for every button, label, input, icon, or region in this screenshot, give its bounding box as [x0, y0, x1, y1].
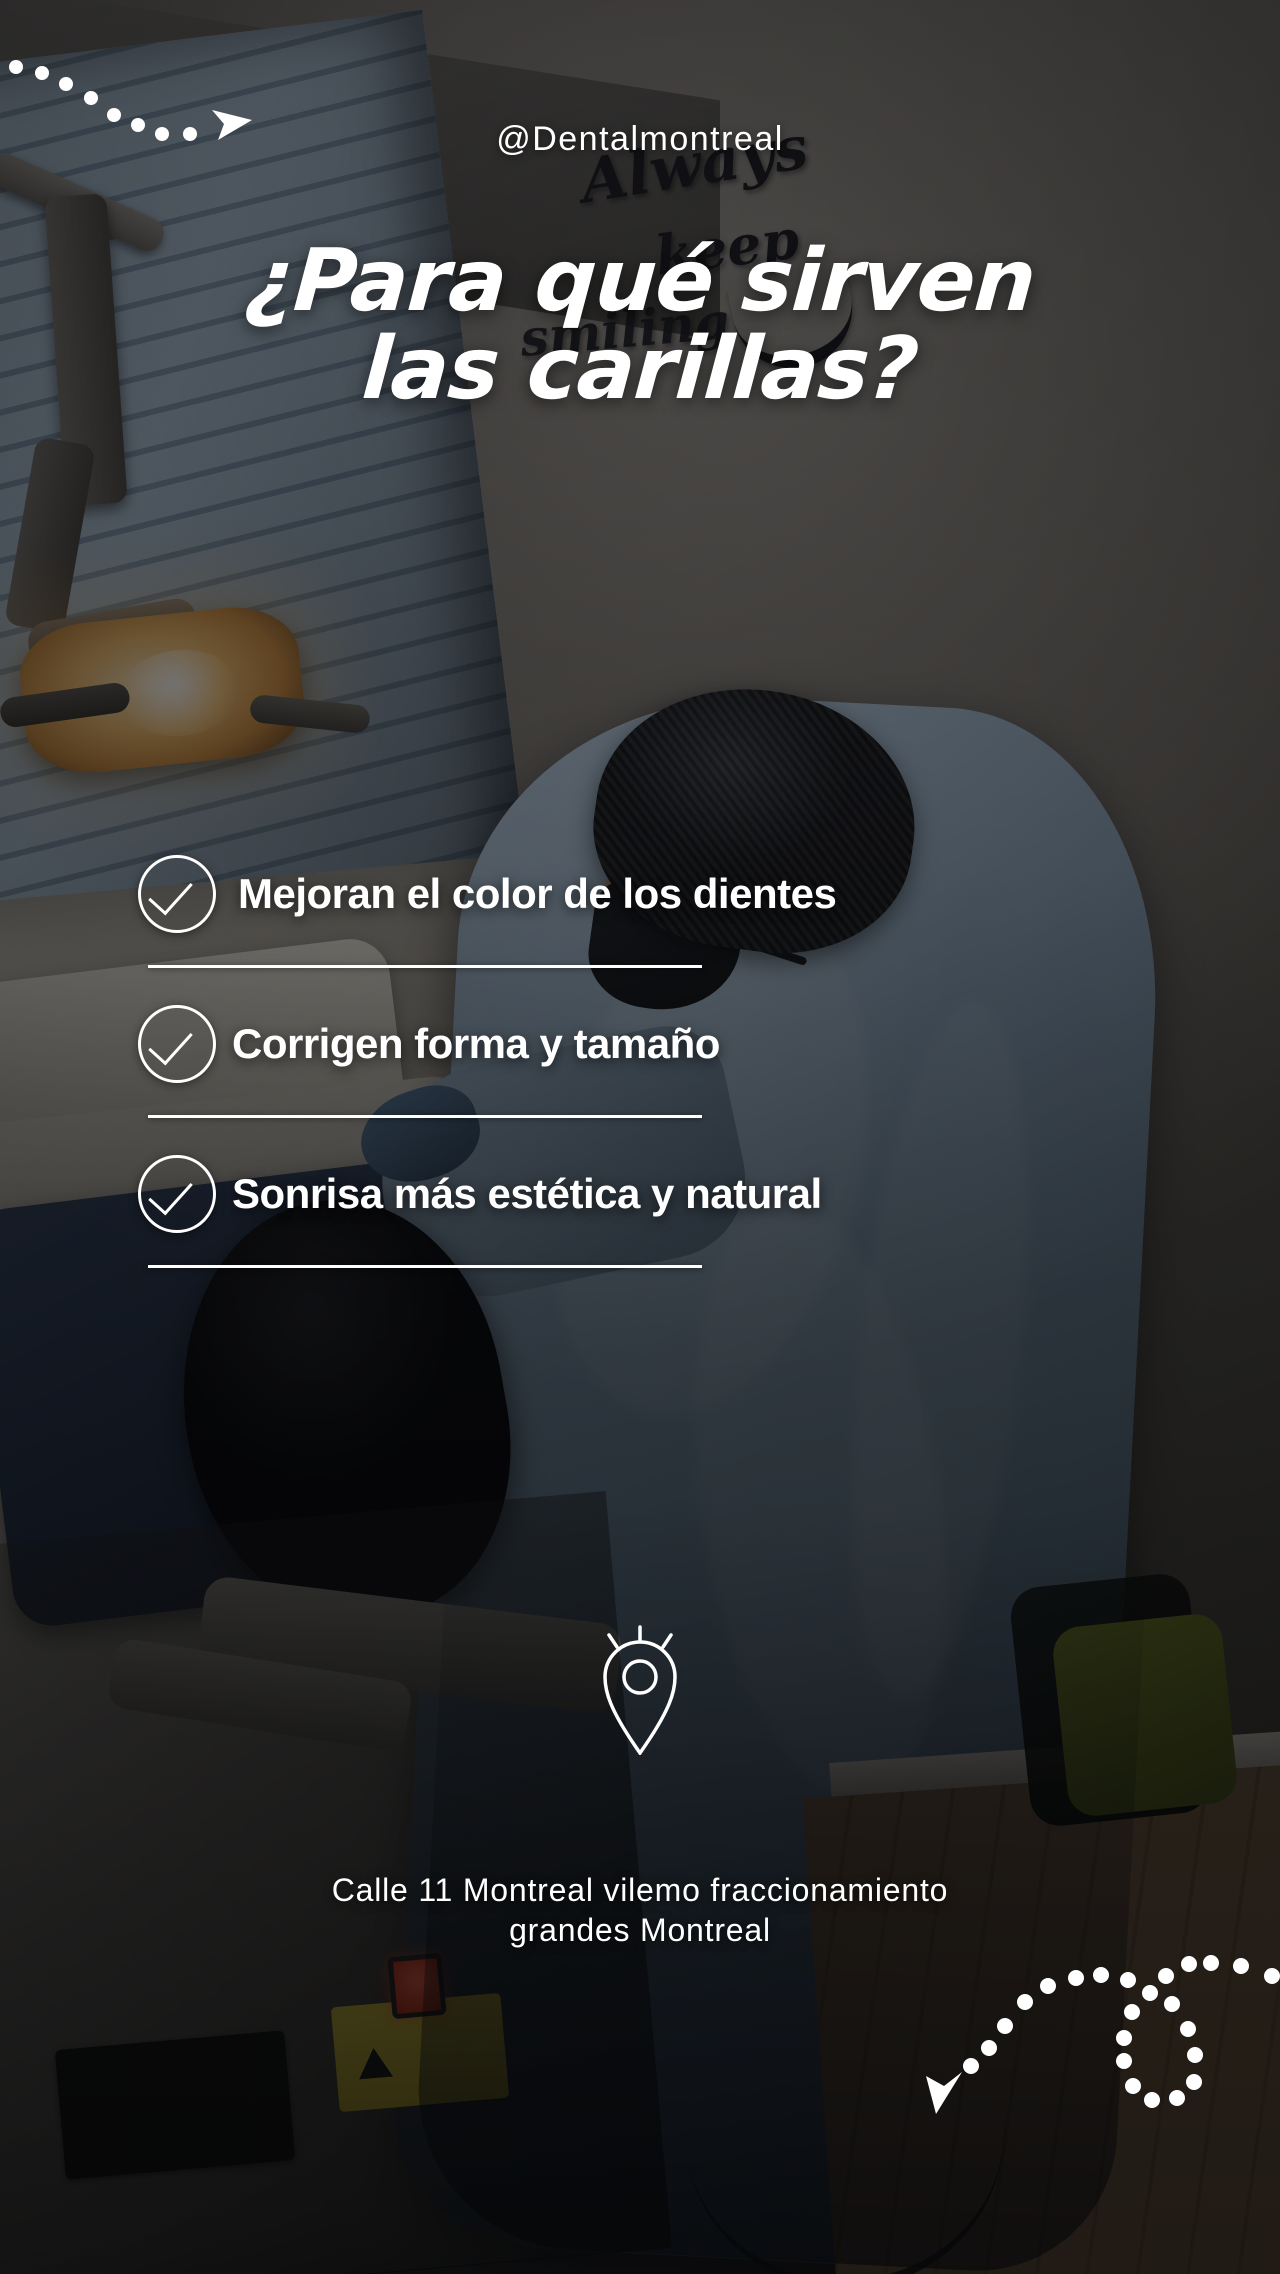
list-item-label: Sonrisa más estética y natural — [232, 1170, 822, 1218]
dotted-arrow-bottom-right-icon — [900, 1890, 1280, 2130]
list-item-label: Mejoran el color de los dientes — [238, 870, 836, 918]
list-item-underline — [148, 965, 702, 968]
benefits-list: Mejoran el color de los dientes Corrigen… — [0, 855, 1280, 1305]
check-circle-icon — [138, 1005, 216, 1083]
headline-line-1: ¿Para qué sirven — [0, 238, 1280, 326]
list-item-label: Corrigen forma y tamaño — [232, 1020, 720, 1068]
page-title: ¿Para qué sirven las carillas? — [0, 238, 1280, 413]
list-item: Corrigen forma y tamaño — [0, 1005, 1280, 1155]
list-item: Sonrisa más estética y natural — [0, 1155, 1280, 1305]
headline-line-2: las carillas? — [0, 326, 1280, 414]
story-overlay: @Dentalmontreal ¿Para qué sirven las car… — [0, 0, 1280, 2274]
check-circle-icon — [138, 1155, 216, 1233]
list-item-underline — [148, 1115, 702, 1118]
list-item: Mejoran el color de los dientes — [0, 855, 1280, 1005]
story-canvas: Always keep smiling — [0, 0, 1280, 2274]
map-pin-icon — [595, 1625, 685, 1755]
instagram-handle: @Dentalmontreal — [0, 120, 1280, 159]
list-item-underline — [148, 1265, 702, 1268]
check-circle-icon — [138, 855, 216, 933]
